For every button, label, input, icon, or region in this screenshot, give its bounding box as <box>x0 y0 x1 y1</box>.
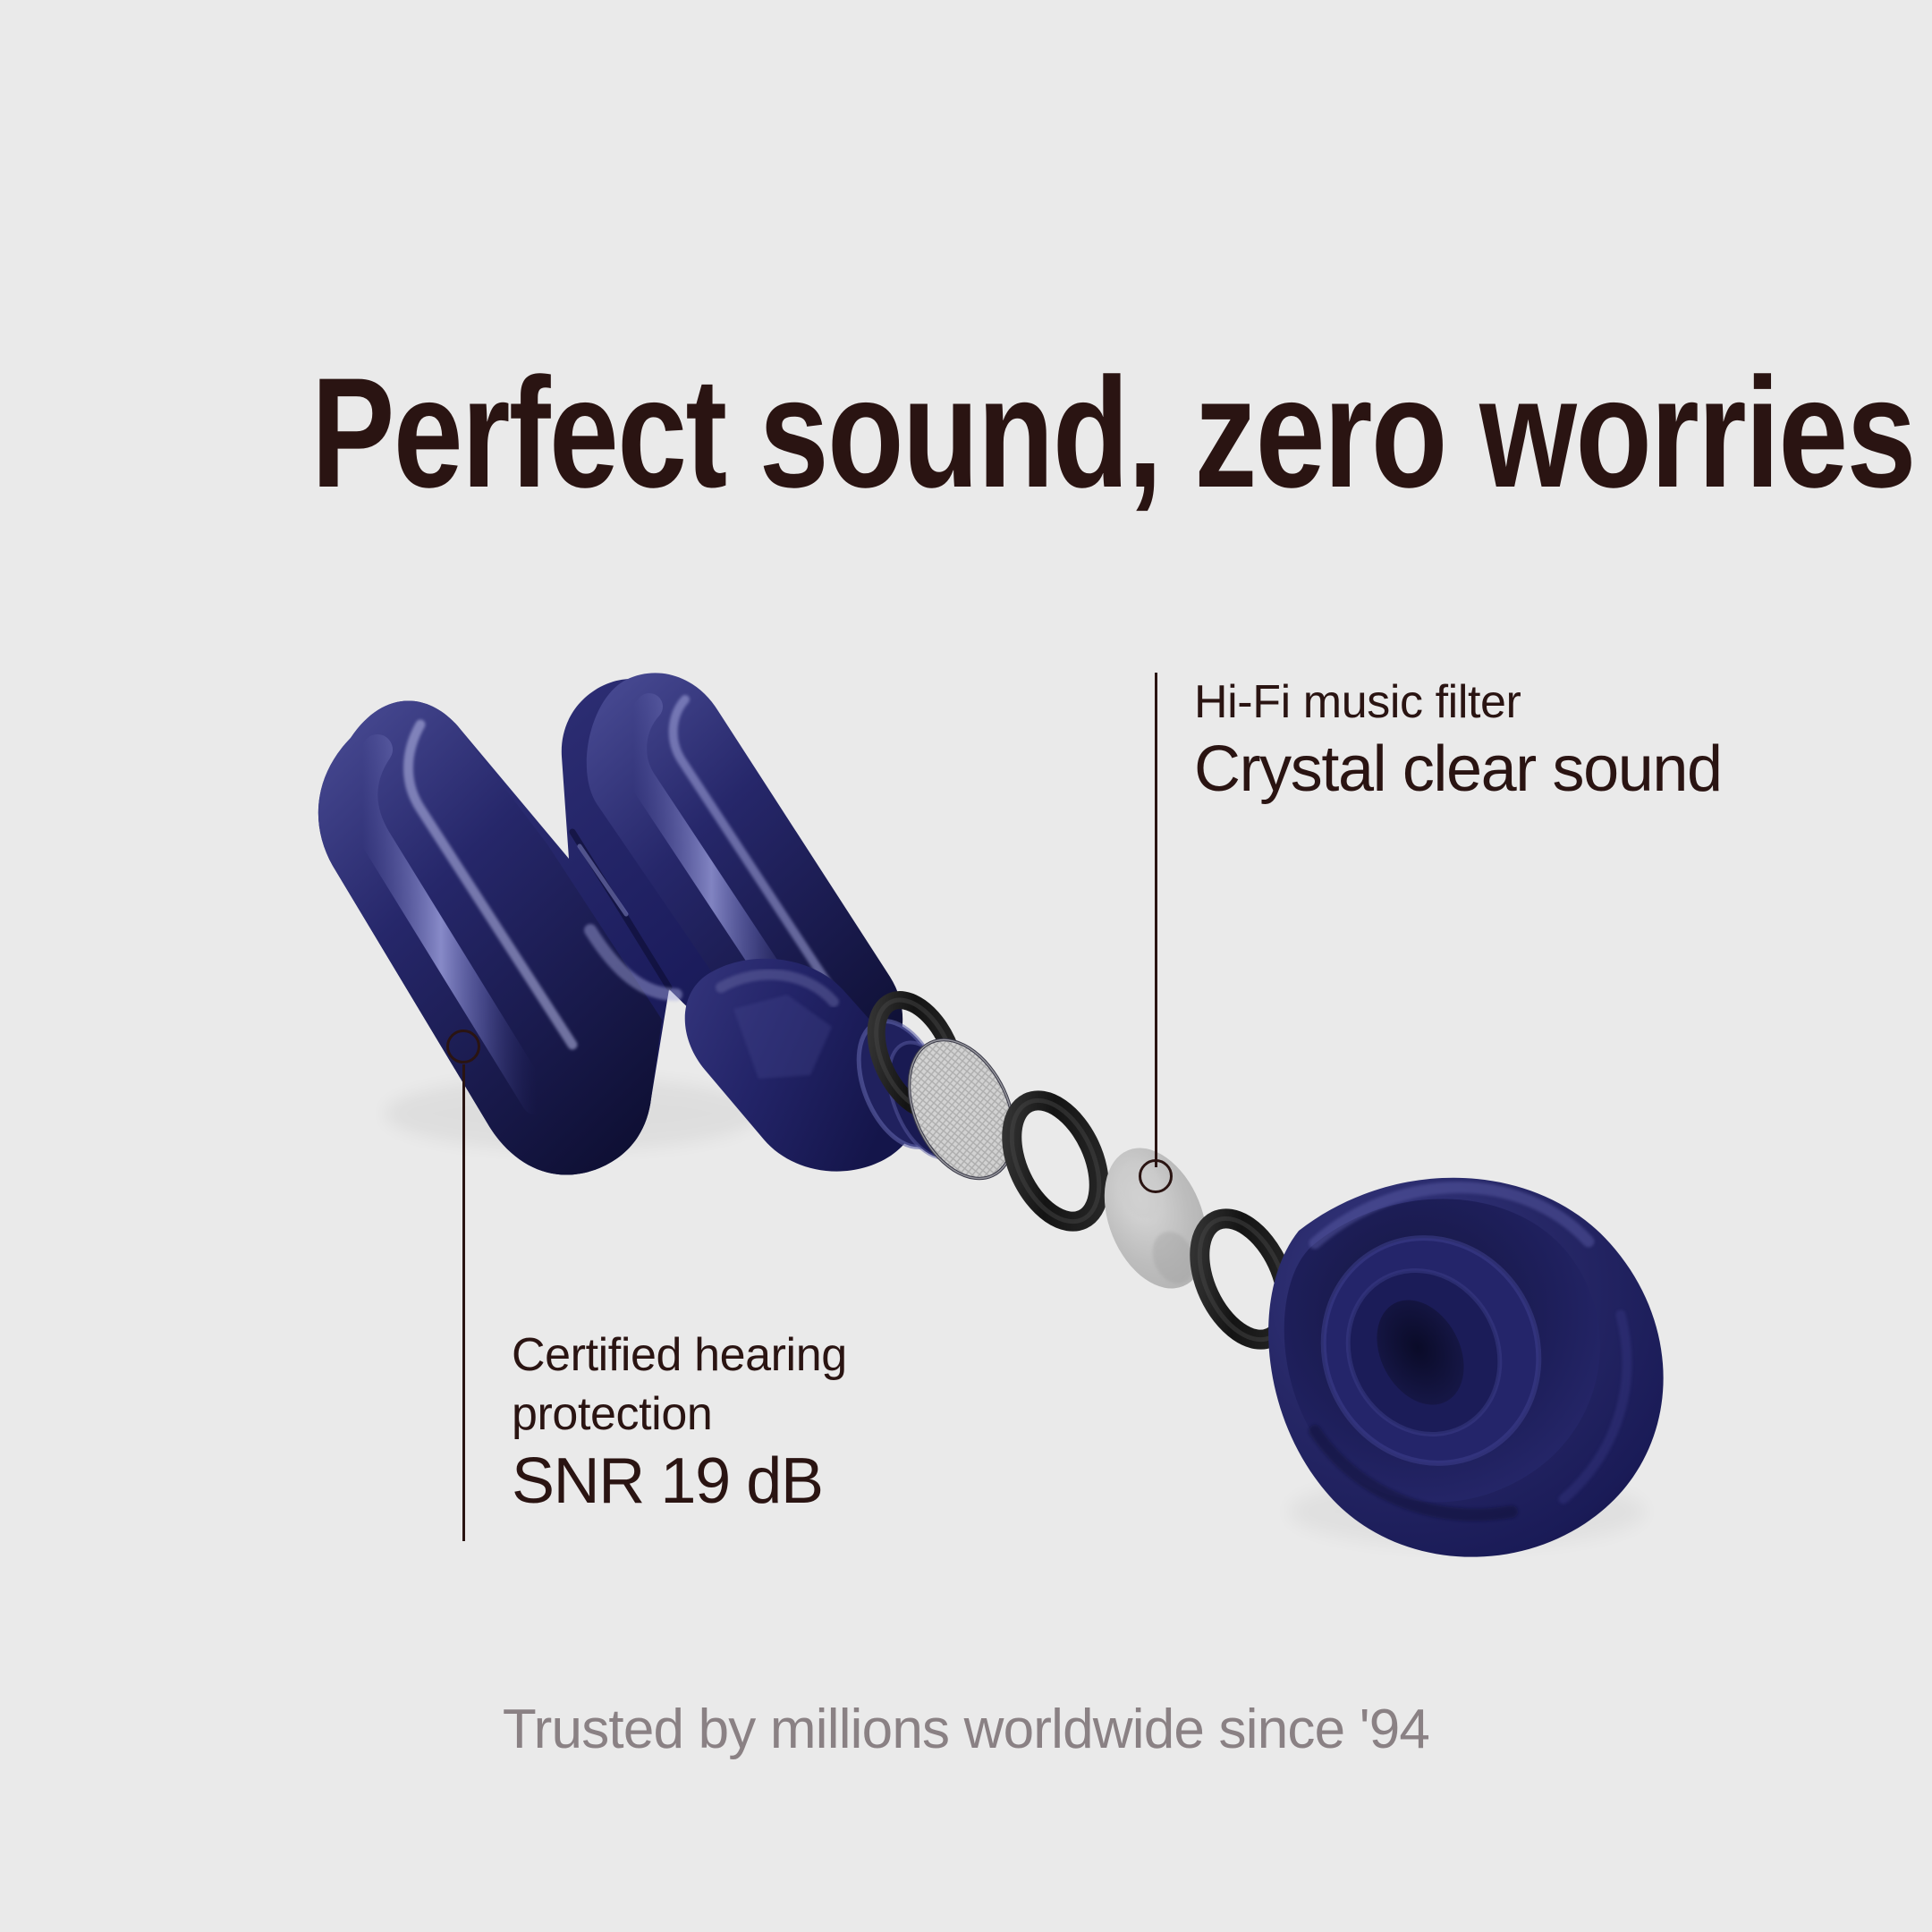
leader-line-right <box>1155 673 1157 1167</box>
o-ring-3 <box>1182 1205 1305 1353</box>
silicone-eartip <box>1268 1125 1664 1557</box>
callout-marker-right <box>1139 1159 1173 1193</box>
page-title: Perfect sound, zero worries <box>311 351 1385 530</box>
promo-graphic: Perfect sound, zero worries Hi-Fi music … <box>0 0 1932 1932</box>
callout-left-kicker: Certified hearing protection <box>512 1326 1048 1444</box>
callout-right-kicker: Hi-Fi music filter <box>1194 673 1731 732</box>
callout-left-headline: SNR 19 dB <box>512 1444 1048 1519</box>
trust-statement: Trusted by millions worldwide since '94 <box>0 1698 1932 1762</box>
callout-right: Hi-Fi music filter Crystal clear sound <box>1194 673 1731 807</box>
mesh-filter-disc <box>888 1023 1035 1196</box>
product-illustration <box>0 0 1932 1932</box>
callout-marker-left <box>446 1030 480 1063</box>
o-ring-2 <box>995 1087 1117 1235</box>
callout-left: Certified hearing protection SNR 19 dB <box>512 1326 1048 1519</box>
earplug-body <box>318 673 979 1174</box>
leader-line-left <box>462 1064 465 1541</box>
callout-right-headline: Crystal clear sound <box>1194 732 1731 807</box>
o-ring-1 <box>860 987 972 1123</box>
